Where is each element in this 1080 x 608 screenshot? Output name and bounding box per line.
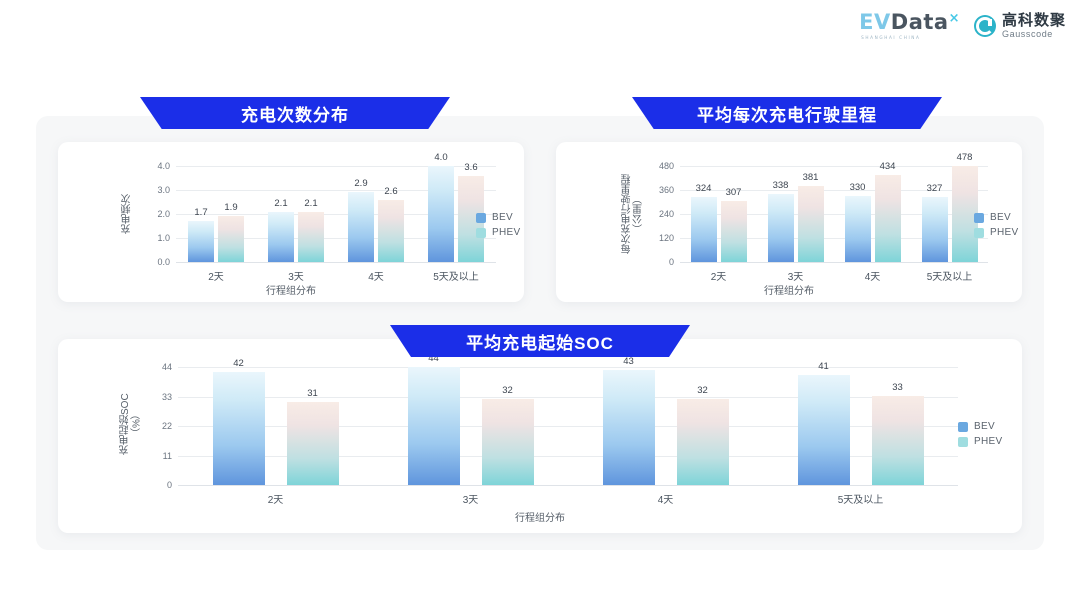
gausscode-logo: 高科数聚 Gausscode: [974, 13, 1066, 39]
legend-swatch-phev-icon: [476, 228, 486, 238]
bar-phev[interactable]: 2.6: [378, 200, 404, 262]
bar-group: 324307: [680, 166, 757, 262]
bar-value-label: 2.6: [384, 186, 397, 197]
gausscode-logo-en: Gausscode: [1002, 30, 1066, 39]
y-axis-tick: 2.0: [140, 209, 170, 219]
bar-phev[interactable]: 32: [482, 399, 534, 485]
evdata-logo: EVData× SHANGHAI CHINA: [859, 12, 960, 40]
bar-value-label: 478: [957, 152, 973, 163]
bar-group: 2.92.6: [336, 166, 416, 262]
gausscode-logo-cn: 高科数聚: [1002, 13, 1066, 28]
bar-groups: 324307338381330434327478: [680, 166, 988, 262]
legend-swatch-bev-icon: [958, 422, 968, 432]
bar-bev[interactable]: 330: [845, 196, 871, 262]
x-axis-tick: 4天: [834, 268, 911, 283]
bar-phev[interactable]: 307: [721, 201, 747, 262]
legend-item-phev[interactable]: PHEV: [974, 227, 1018, 238]
bar-bev[interactable]: 338: [768, 194, 794, 262]
x-axis-tick: 2天: [178, 491, 373, 506]
y-axis-label-line1: 充电频次: [122, 194, 133, 234]
bar-bev[interactable]: 2.9: [348, 192, 374, 262]
x-axis-tick: 5天及以上: [763, 491, 958, 506]
page-header: EVData× SHANGHAI CHINA 高科数聚 Gausscode: [0, 0, 1080, 60]
bar-value-label: 32: [697, 385, 708, 396]
bar-value-label: 42: [233, 358, 244, 369]
bar-phev[interactable]: 32: [677, 399, 729, 485]
y-axis-tick: 360: [644, 185, 674, 195]
evdata-logo-subtitle: SHANGHAI CHINA: [861, 35, 920, 40]
bar-group: 4432: [373, 367, 568, 485]
bar-value-label: 338: [773, 180, 789, 191]
x-axis-tick: 5天及以上: [911, 268, 988, 283]
x-axis-line: [680, 262, 988, 263]
x-axis-tick: 3天: [373, 491, 568, 506]
bar-value-label: 434: [880, 161, 896, 172]
x-axis-tick: 4天: [568, 491, 763, 506]
x-axis-tick: 3天: [256, 268, 336, 283]
bar-bev[interactable]: 42: [213, 372, 265, 485]
evdata-logo-ev: EV: [859, 10, 891, 34]
plot-area: 1.71.92.12.12.92.64.03.6: [176, 166, 496, 262]
x-axis-line: [176, 262, 496, 263]
x-axis-tick: 3天: [757, 268, 834, 283]
y-axis-tick: 3.0: [140, 185, 170, 195]
bar-bev[interactable]: 43: [603, 370, 655, 485]
y-axis-tick: 0: [142, 480, 172, 490]
y-axis-label: 充电频次: [122, 172, 134, 256]
legend-item-phev[interactable]: PHEV: [476, 227, 520, 238]
chart-avg-start-soc: 充电起始SOC（%）42314432433241334433221102天3天4…: [58, 339, 1022, 533]
bar-value-label: 1.7: [194, 207, 207, 218]
y-axis-label-line1: 每次充电行驶里程: [622, 174, 633, 254]
bar-group: 4231: [178, 367, 373, 485]
bar-value-label: 31: [307, 388, 318, 399]
bar-phev[interactable]: 434: [875, 175, 901, 262]
y-axis-label-line1: 充电起始SOC: [120, 393, 131, 455]
evdata-wordmark: EVData×: [859, 12, 960, 33]
gausscode-mark-icon: [974, 15, 996, 37]
x-axis-line: [178, 485, 958, 486]
bar-phev[interactable]: 381: [798, 186, 824, 262]
legend-label-phev: PHEV: [492, 227, 520, 238]
chart-legend: BEVPHEV: [974, 212, 1018, 238]
bar-bev[interactable]: 41: [798, 375, 850, 485]
x-axis-ticks: 2天3天4天5天及以上: [178, 491, 958, 506]
y-axis-tick: 0: [644, 257, 674, 267]
bar-phev[interactable]: 33: [872, 396, 924, 485]
gausscode-text: 高科数聚 Gausscode: [1002, 13, 1066, 39]
legend-item-bev[interactable]: BEV: [958, 421, 1002, 432]
bar-bev[interactable]: 4.0: [428, 166, 454, 262]
chart-title-ribbon-charging-frequency: 充电次数分布: [140, 97, 450, 129]
y-axis-tick: 4.0: [140, 161, 170, 171]
y-axis-tick: 33: [142, 392, 172, 402]
bar-group: 330434: [834, 166, 911, 262]
legend-item-phev[interactable]: PHEV: [958, 436, 1002, 447]
bar-value-label: 330: [850, 182, 866, 193]
x-axis-tick: 2天: [176, 268, 256, 283]
logo-group: EVData× SHANGHAI CHINA 高科数聚 Gausscode: [859, 12, 1066, 40]
chart-title-ribbon-avg-start-soc: 平均充电起始SOC: [390, 325, 690, 357]
bar-phev[interactable]: 2.1: [298, 212, 324, 262]
chart-title-avg-range: 平均每次充电行驶里程: [697, 101, 877, 126]
bar-value-label: 3.6: [464, 162, 477, 173]
bar-groups: 1.71.92.12.12.92.64.03.6: [176, 166, 496, 262]
legend-label-bev: BEV: [990, 212, 1011, 223]
bar-value-label: 1.9: [224, 202, 237, 213]
legend-label-phev: PHEV: [990, 227, 1018, 238]
x-axis-tick: 2天: [680, 268, 757, 283]
plot-area: 4231443243324133: [178, 367, 958, 485]
bar-value-label: 327: [927, 183, 943, 194]
y-axis-tick: 11: [142, 451, 172, 461]
bar-bev[interactable]: 44: [408, 367, 460, 485]
chart-title-ribbon-avg-range: 平均每次充电行驶里程: [632, 97, 942, 129]
evdata-logo-data: Data: [891, 10, 949, 34]
legend-label-bev: BEV: [492, 212, 513, 223]
bar-groups: 4231443243324133: [178, 367, 958, 485]
x-axis-ticks: 2天3天4天5天及以上: [176, 268, 496, 283]
bar-group: 4133: [763, 367, 958, 485]
bar-value-label: 4.0: [434, 152, 447, 163]
x-axis-label: 行程组分布: [58, 282, 524, 297]
x-axis-tick: 4天: [336, 268, 416, 283]
evdata-cross-icon: ×: [949, 11, 960, 26]
legend-swatch-phev-icon: [974, 228, 984, 238]
bar-value-label: 32: [502, 385, 513, 396]
y-axis-tick: 22: [142, 421, 172, 431]
chart-legend: BEVPHEV: [476, 212, 520, 238]
bar-bev[interactable]: 2.1: [268, 212, 294, 262]
y-axis-tick: 480: [644, 161, 674, 171]
chart-legend: BEVPHEV: [958, 421, 1002, 447]
bar-group: 338381: [757, 166, 834, 262]
legend-swatch-phev-icon: [958, 437, 968, 447]
x-axis-label: 行程组分布: [58, 509, 1022, 524]
x-axis-ticks: 2天3天4天5天及以上: [680, 268, 988, 283]
bar-bev[interactable]: 324: [691, 197, 717, 262]
legend-swatch-bev-icon: [476, 213, 486, 223]
x-axis-tick: 5天及以上: [416, 268, 496, 283]
legend-label-bev: BEV: [974, 421, 995, 432]
y-axis-label: 充电起始SOC（%）: [120, 369, 143, 479]
legend-swatch-bev-icon: [974, 213, 984, 223]
bar-bev[interactable]: 1.7: [188, 221, 214, 262]
bar-group: 2.12.1: [256, 166, 336, 262]
legend-item-bev[interactable]: BEV: [974, 212, 1018, 223]
bar-value-label: 33: [892, 382, 903, 393]
y-axis-tick: 240: [644, 209, 674, 219]
chart-charging-frequency: 充电频次1.71.92.12.12.92.64.03.64.03.02.01.0…: [58, 142, 524, 302]
y-axis-tick: 1.0: [140, 233, 170, 243]
y-axis-tick: 120: [644, 233, 674, 243]
bar-value-label: 381: [803, 172, 819, 183]
bar-phev[interactable]: 31: [287, 402, 339, 485]
bar-value-label: 2.9: [354, 178, 367, 189]
bar-phev[interactable]: 1.9: [218, 216, 244, 262]
y-axis-label: 每次充电行驶里程（公里）: [622, 166, 645, 262]
x-axis-label: 行程组分布: [556, 282, 1022, 297]
chart-title-avg-start-soc: 平均充电起始SOC: [466, 329, 614, 354]
bar-value-label: 307: [726, 187, 742, 198]
chart-avg-range-per-charge: 每次充电行驶里程（公里）3243073383813304343274784803…: [556, 142, 1022, 302]
plot-area: 324307338381330434327478: [680, 166, 988, 262]
legend-label-phev: PHEV: [974, 436, 1002, 447]
bar-value-label: 2.1: [304, 198, 317, 209]
legend-item-bev[interactable]: BEV: [476, 212, 520, 223]
bar-value-label: 324: [696, 183, 712, 194]
bar-group: 1.71.9: [176, 166, 256, 262]
y-axis-tick: 44: [142, 362, 172, 372]
bar-value-label: 41: [818, 361, 829, 372]
bar-value-label: 2.1: [274, 198, 287, 209]
bar-value-label: 43: [623, 356, 634, 367]
chart-title-charging-frequency: 充电次数分布: [241, 101, 349, 126]
bar-group: 4332: [568, 367, 763, 485]
y-axis-tick: 0.0: [140, 257, 170, 267]
bar-bev[interactable]: 327: [922, 197, 948, 262]
